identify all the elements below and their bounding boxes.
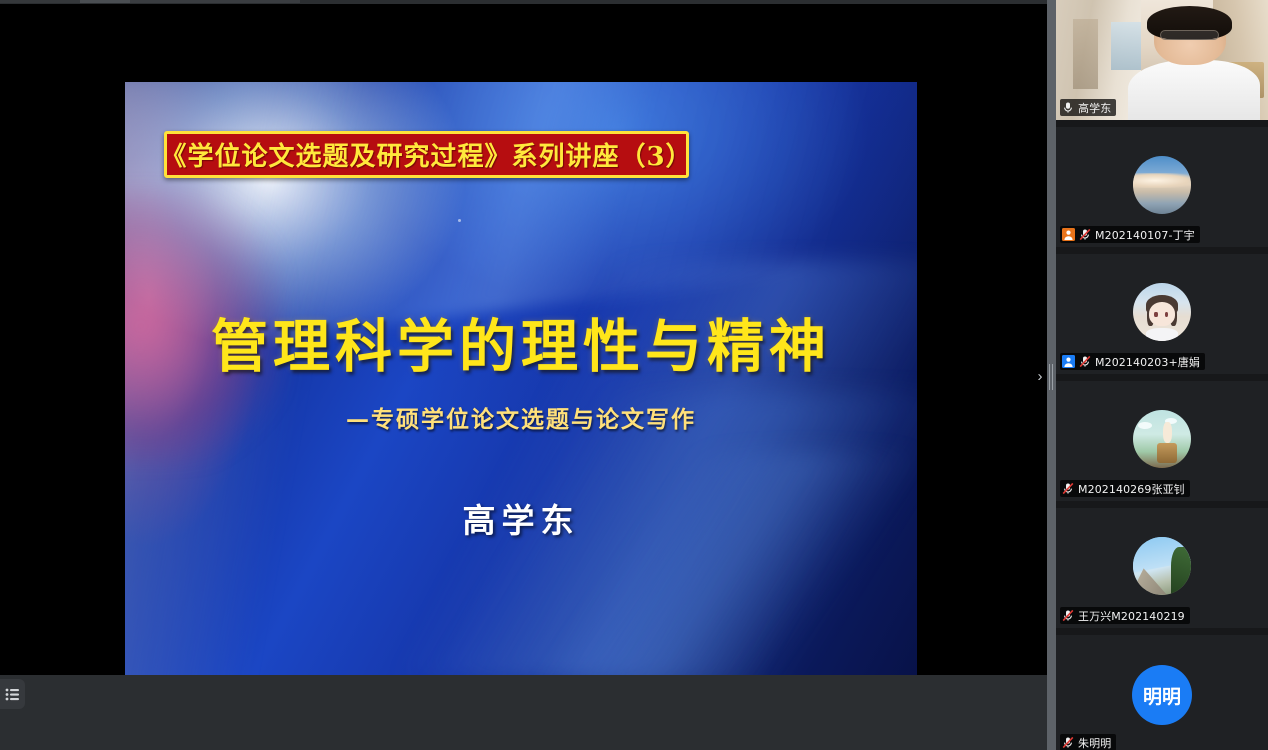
microphone-muted-icon	[1062, 736, 1074, 749]
profile-badge-icon	[1062, 228, 1075, 241]
meeting-window: 《学位论文选题及研究过程》系列讲座（3） 管理科学的理性与精神 —专硕学位论文选…	[0, 0, 1268, 750]
participant-tile-host[interactable]: 高学东	[1056, 0, 1268, 120]
chevron-right-icon[interactable]: ›	[1033, 368, 1047, 386]
participant-name: 朱明明	[1078, 735, 1111, 750]
participant-nameplate: M202140203+唐娟	[1060, 353, 1205, 370]
slide-presenter-name: 高学东	[125, 494, 917, 542]
slide-main-title: 管理科学的理性与精神	[125, 301, 917, 383]
anime-character-avatar	[1133, 283, 1191, 341]
participant-name: 高学东	[1078, 100, 1111, 116]
cloud-sky-avatar	[1133, 156, 1191, 214]
participant-nameplate: 高学东	[1060, 99, 1116, 116]
slide-series-banner-text: 《学位论文选题及研究过程》系列讲座（3）	[160, 136, 692, 173]
slide-light-streak	[394, 452, 917, 678]
microphone-muted-icon	[1079, 228, 1091, 241]
microphone-icon	[1062, 101, 1074, 114]
slide-speck	[458, 219, 461, 222]
shared-screen-stage[interactable]: 《学位论文选题及研究过程》系列讲座（3） 管理科学的理性与精神 —专硕学位论文选…	[0, 4, 1047, 675]
initials-avatar: 明明	[1132, 665, 1192, 725]
participant-tile[interactable]: 明明 朱明明	[1056, 635, 1268, 750]
participant-tile[interactable]: M202140107-丁宇	[1056, 127, 1268, 247]
participant-tile[interactable]: M202140203+唐娟	[1056, 254, 1268, 374]
top-strip-segment-highlight	[80, 0, 130, 3]
microphone-muted-icon	[1062, 482, 1074, 495]
participant-tile[interactable]: 王万兴M202140219	[1056, 508, 1268, 628]
profile-badge-icon	[1062, 355, 1075, 368]
bottom-toolbar	[0, 675, 1047, 750]
microphone-muted-icon	[1079, 355, 1091, 368]
participant-nameplate: M202140269张亚钊	[1060, 480, 1190, 497]
participant-tile[interactable]: M202140269张亚钊	[1056, 381, 1268, 501]
panel-resize-handle[interactable]	[1049, 364, 1054, 390]
mountain-sky-avatar	[1133, 537, 1191, 595]
participant-name: M202140203+唐娟	[1095, 354, 1200, 370]
participant-nameplate: 朱明明	[1060, 734, 1116, 750]
presentation-slide: 《学位论文选题及研究过程》系列讲座（3） 管理科学的理性与精神 —专硕学位论文选…	[125, 82, 917, 678]
top-strip-segment-left	[0, 0, 80, 3]
participant-nameplate: M202140107-丁宇	[1060, 226, 1200, 243]
illustration-avatar	[1133, 410, 1191, 468]
participant-name: M202140107-丁宇	[1095, 227, 1195, 243]
list-icon[interactable]	[0, 679, 25, 709]
microphone-muted-icon	[1062, 609, 1074, 622]
participant-nameplate: 王万兴M202140219	[1060, 607, 1190, 624]
participant-name: M202140269张亚钊	[1078, 481, 1185, 497]
slide-series-banner: 《学位论文选题及研究过程》系列讲座（3）	[164, 131, 689, 178]
top-strip-segment-right	[130, 0, 300, 3]
slide-subtitle: —专硕学位论文选题与论文写作	[125, 400, 917, 434]
participant-name: 王万兴M202140219	[1078, 608, 1185, 624]
participant-filmstrip[interactable]: 高学东	[1056, 0, 1268, 750]
